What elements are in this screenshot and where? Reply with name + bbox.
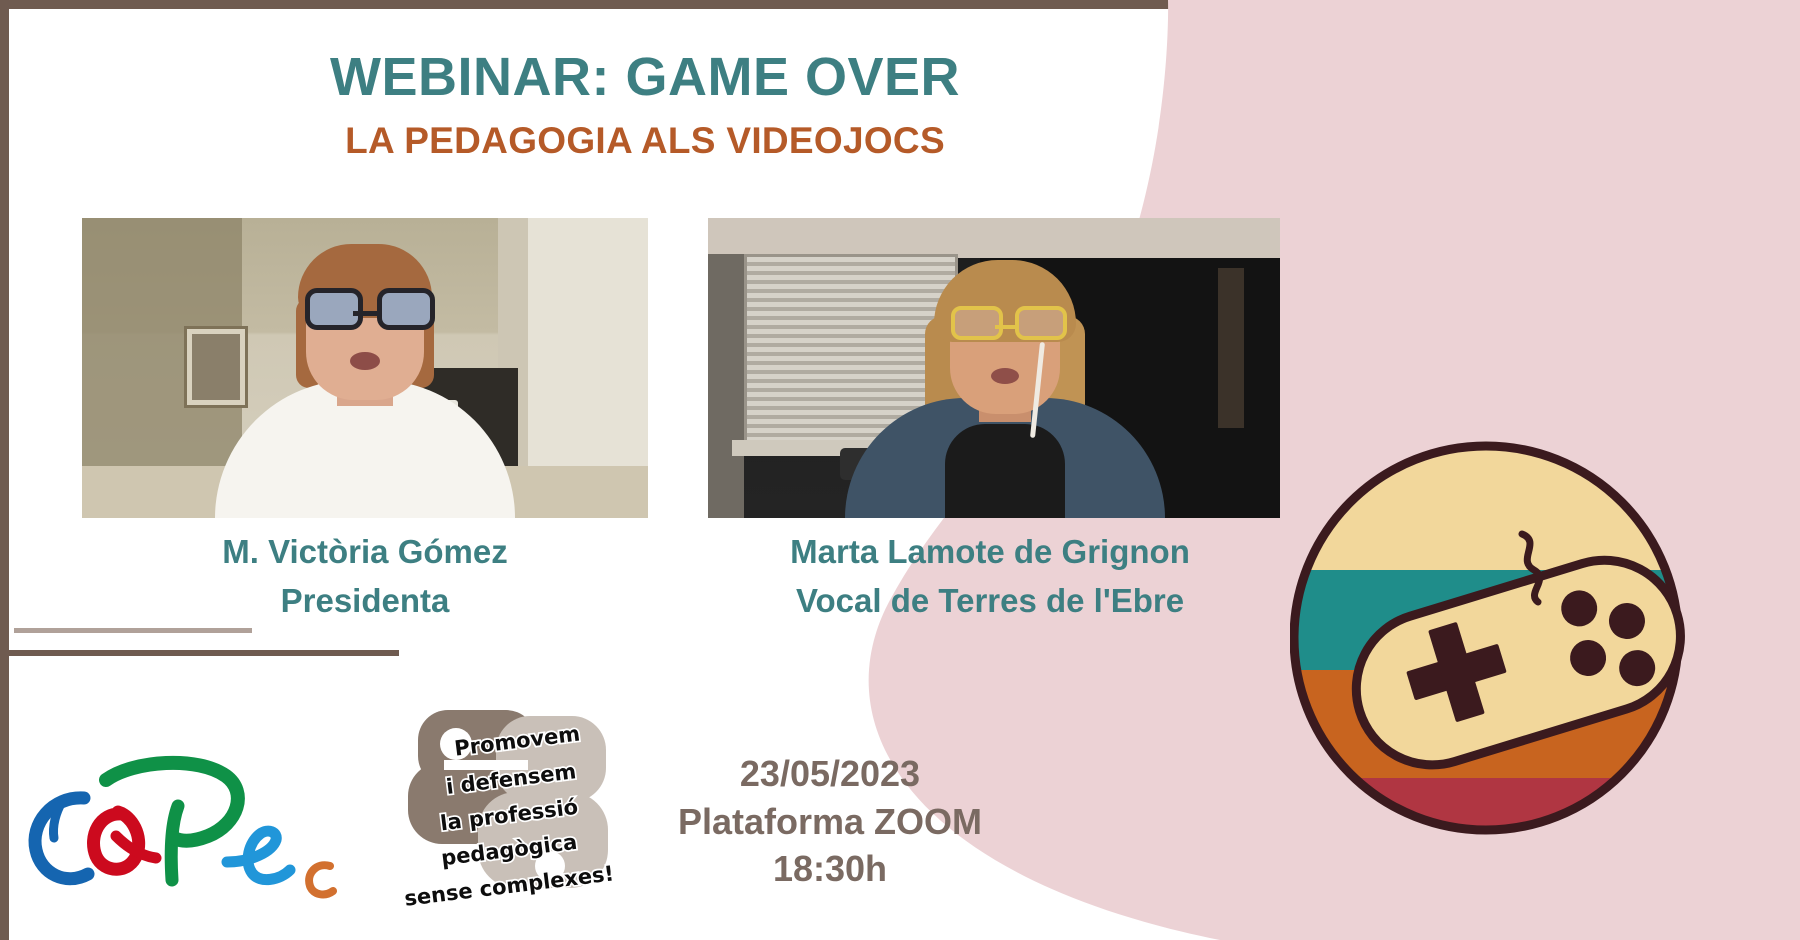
- event-date: 23/05/2023: [640, 750, 1020, 798]
- slogan-stamp: Promovem i defensem la professió pedagòg…: [400, 700, 630, 915]
- webcam-left-image: [82, 218, 648, 518]
- event-platform: Plataforma ZOOM: [640, 798, 1020, 846]
- webcam-tile-right: [708, 218, 1280, 518]
- speaker-role: Presidenta: [82, 577, 648, 626]
- speaker-left-figure: [215, 268, 515, 518]
- divider-dark: [9, 650, 399, 656]
- speaker-name: M. Victòria Gómez: [82, 528, 648, 577]
- copec-logo: [22, 740, 382, 900]
- webcam-tile-left: [82, 218, 648, 518]
- eyeglasses-right-lens: [1015, 306, 1067, 340]
- webcam-tiles: [0, 218, 1290, 518]
- page-title: WEBINAR: GAME OVER: [0, 48, 1290, 106]
- webinar-poster: WEBINAR: GAME OVER LA PEDAGOGIA ALS VIDE…: [0, 0, 1800, 940]
- wall-left-strip: [708, 254, 744, 518]
- poster-headings: WEBINAR: GAME OVER LA PEDAGOGIA ALS VIDE…: [0, 48, 1290, 163]
- eyeglasses-left-lens: [305, 288, 363, 330]
- webcam-right-image: [708, 218, 1280, 518]
- event-time: 18:30h: [640, 845, 1020, 893]
- gamepad-icon: [1290, 438, 1710, 878]
- speaker-role: Vocal de Terres de l'Ebre: [690, 577, 1290, 626]
- page-subtitle: LA PEDAGOGIA ALS VIDEOJOCS: [0, 120, 1290, 163]
- eyeglasses-right-lens: [377, 288, 435, 330]
- event-info: 23/05/2023 Plataforma ZOOM 18:30h: [640, 750, 1020, 893]
- speaker-right-figure: [845, 248, 1165, 518]
- shelf-shape: [1218, 268, 1244, 428]
- divider-light: [14, 628, 252, 633]
- speaker-caption-right: Marta Lamote de Grignon Vocal de Terres …: [690, 528, 1290, 626]
- speaker-name: Marta Lamote de Grignon: [690, 528, 1290, 577]
- speaker-captions: M. Victòria Gómez Presidenta Marta Lamot…: [0, 528, 1290, 638]
- eyeglasses-left-lens: [951, 306, 1003, 340]
- speaker-caption-left: M. Victòria Gómez Presidenta: [82, 528, 648, 626]
